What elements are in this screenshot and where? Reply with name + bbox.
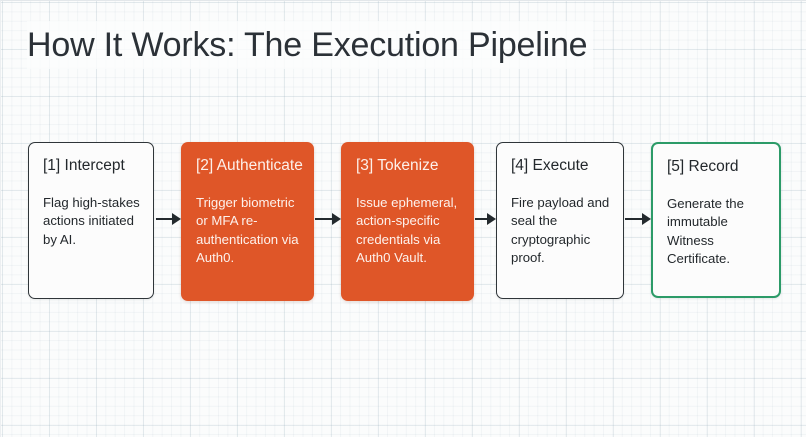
pipeline-step-execute[interactable]: [4] Execute Fire payload and seal the cr…	[496, 142, 624, 299]
step-body: Fire payload and seal the cryptographic …	[511, 194, 610, 268]
arrow-right-icon	[625, 212, 651, 226]
arrow-shaft	[625, 218, 643, 220]
arrow-right-icon	[156, 212, 181, 226]
step-body: Generate the immutable Witness Certifica…	[667, 195, 766, 269]
pipeline-step-intercept[interactable]: [1] Intercept Flag high-stakes actions i…	[28, 142, 154, 299]
step-title: [5] Record	[667, 157, 766, 176]
arrow-head	[332, 213, 341, 225]
step-title: [3] Tokenize	[356, 156, 460, 175]
pipeline-step-authenticate[interactable]: [2] Authenticate Trigger biometric or MF…	[181, 142, 314, 301]
pipeline-flow: [1] Intercept Flag high-stakes actions i…	[1, 142, 806, 304]
arrow-shaft	[156, 218, 173, 220]
step-title: [1] Intercept	[43, 156, 140, 175]
arrow-head	[487, 213, 496, 225]
pipeline-step-tokenize[interactable]: [3] Tokenize Issue ephemeral, action-spe…	[341, 142, 474, 301]
pipeline-step-record[interactable]: [5] Record Generate the immutable Witnes…	[651, 142, 781, 298]
step-body: Issue ephemeral, action-specific credent…	[356, 194, 460, 268]
step-body: Trigger biometric or MFA re-authenticati…	[196, 194, 300, 268]
slide-canvas: How It Works: The Execution Pipeline [1]…	[0, 0, 806, 437]
arrow-right-icon	[315, 212, 341, 226]
arrow-head	[172, 213, 181, 225]
arrow-head	[642, 213, 651, 225]
page-title: How It Works: The Execution Pipeline	[27, 21, 593, 69]
step-body: Flag high-stakes actions initiated by AI…	[43, 194, 140, 249]
step-title: [4] Execute	[511, 156, 610, 175]
arrow-right-icon	[475, 212, 496, 226]
arrow-shaft	[315, 218, 333, 220]
step-title: [2] Authenticate	[196, 156, 300, 175]
